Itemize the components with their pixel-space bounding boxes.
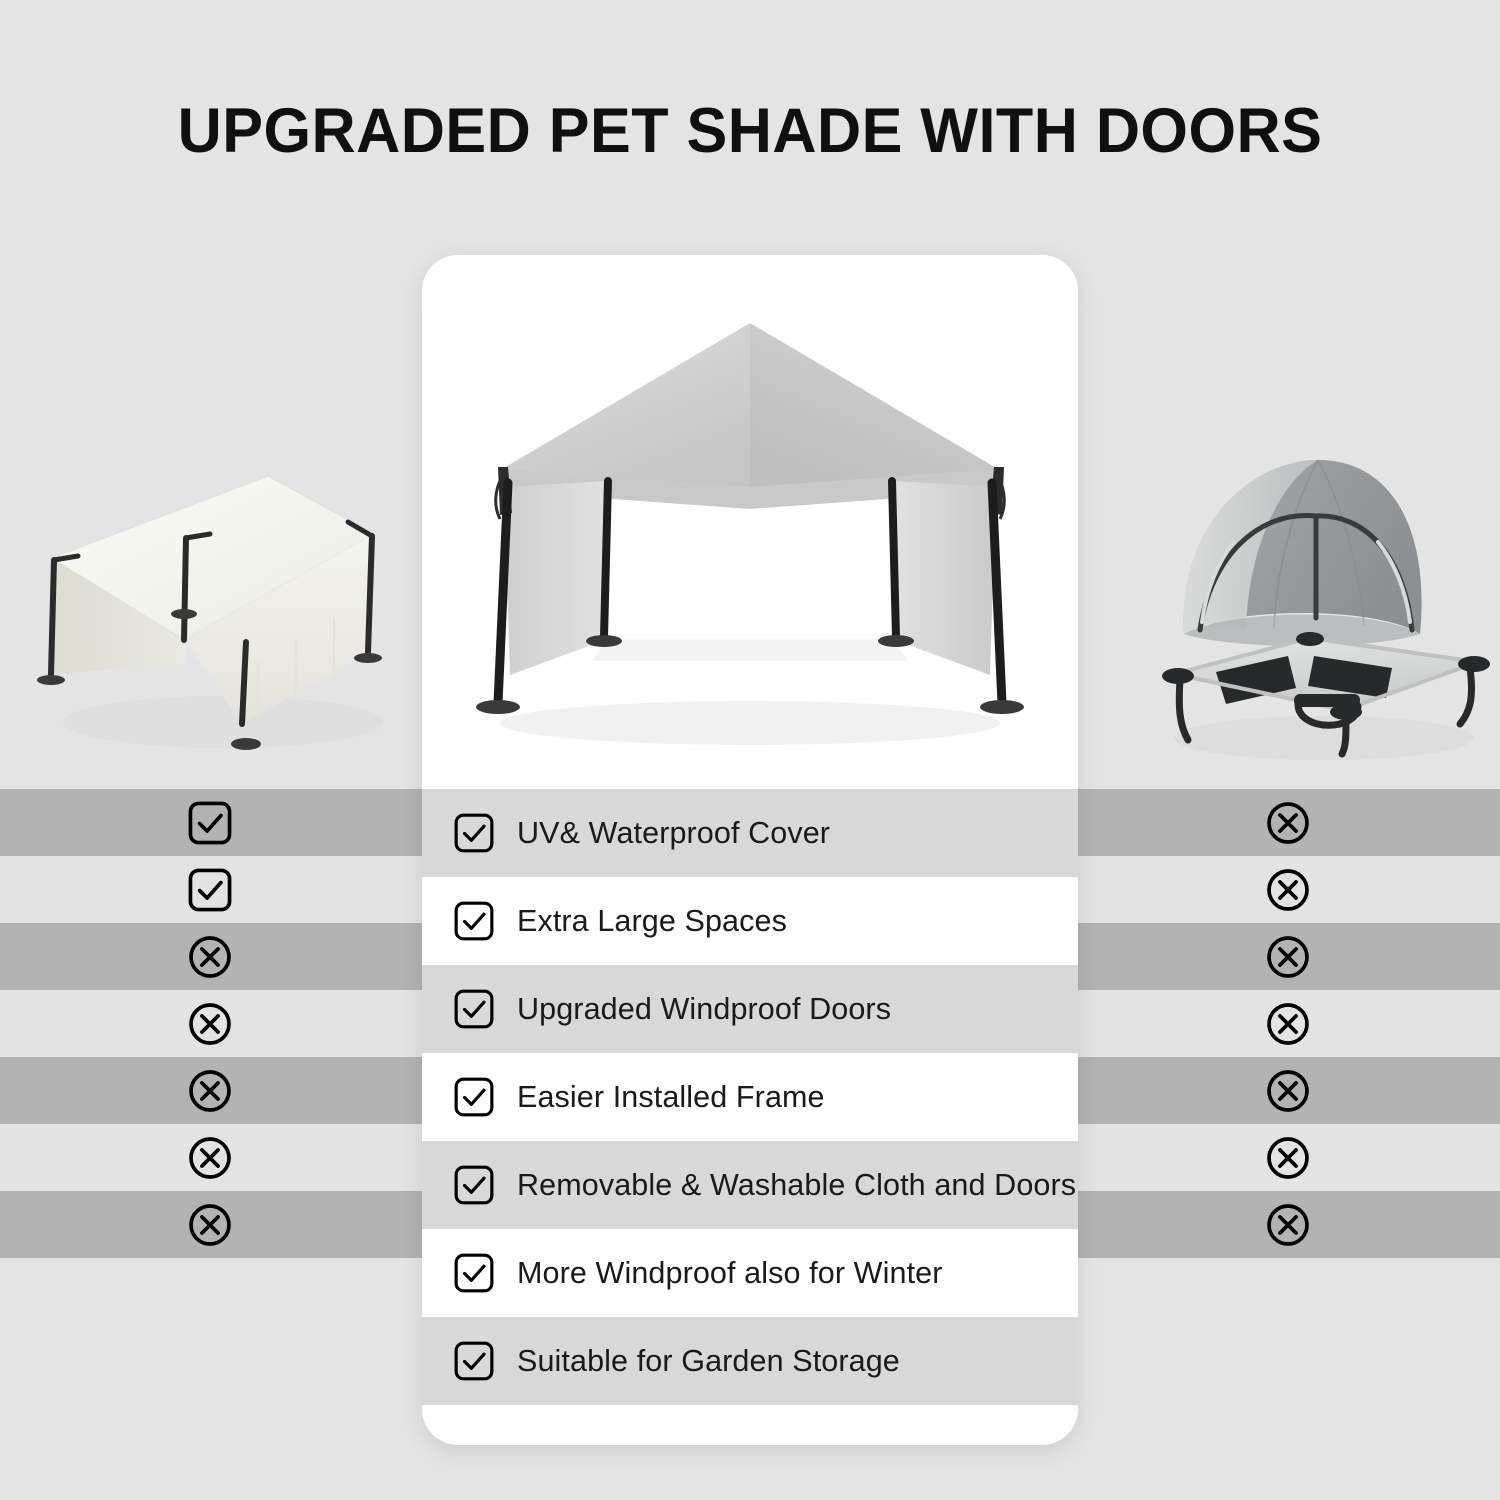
feature-row: Easier Installed Frame: [422, 1053, 1078, 1141]
feature-label: Extra Large Spaces: [517, 903, 787, 939]
circle-cross-icon: [1265, 1202, 1311, 1248]
checkbox-checked-icon: [453, 1164, 495, 1206]
feature-label: Suitable for Garden Storage: [517, 1343, 900, 1379]
circle-cross-icon: [1265, 867, 1311, 913]
circle-cross-icon: [187, 1068, 233, 1114]
feature-row: More Windproof also for Winter: [422, 1229, 1078, 1317]
feature-row: UV& Waterproof Cover: [422, 789, 1078, 877]
feature-row: Suitable for Garden Storage: [422, 1317, 1078, 1405]
checkbox-checked-icon: [453, 900, 495, 942]
feature-label: Easier Installed Frame: [517, 1079, 825, 1115]
circle-cross-icon: [1265, 1001, 1311, 1047]
checkbox-checked-icon: [453, 1076, 495, 1118]
circle-cross-icon: [187, 934, 233, 980]
featured-product-card: UV& Waterproof CoverExtra Large SpacesUp…: [422, 255, 1078, 1445]
circle-cross-icon: [1265, 1068, 1311, 1114]
checkbox-checked-icon: [187, 867, 233, 913]
circle-cross-icon: [187, 1001, 233, 1047]
featured-product-hero: [422, 255, 1078, 789]
circle-cross-icon: [1265, 934, 1311, 980]
circle-cross-icon: [1265, 1135, 1311, 1181]
feature-row: Extra Large Spaces: [422, 877, 1078, 965]
product-image-right: [1148, 438, 1500, 772]
feature-row: Upgraded Windproof Doors: [422, 965, 1078, 1053]
feature-list: UV& Waterproof CoverExtra Large SpacesUp…: [422, 789, 1078, 1405]
circle-cross-icon: [187, 1135, 233, 1181]
checkbox-checked-icon: [453, 812, 495, 854]
feature-label: Removable & Washable Cloth and Doors: [517, 1167, 1076, 1203]
product-image-left: [18, 452, 412, 772]
checkbox-checked-icon: [453, 1340, 495, 1382]
checkbox-checked-icon: [187, 800, 233, 846]
feature-label: More Windproof also for Winter: [517, 1255, 943, 1291]
feature-label: UV& Waterproof Cover: [517, 815, 830, 851]
checkbox-checked-icon: [453, 988, 495, 1030]
feature-label: Upgraded Windproof Doors: [517, 991, 891, 1027]
checkbox-checked-icon: [453, 1252, 495, 1294]
circle-cross-icon: [1265, 800, 1311, 846]
page-title: UPGRADED PET SHADE WITH DOORS: [23, 98, 1478, 164]
product-image-center: [438, 291, 1062, 761]
circle-cross-icon: [187, 1202, 233, 1248]
feature-row: Removable & Washable Cloth and Doors: [422, 1141, 1078, 1229]
